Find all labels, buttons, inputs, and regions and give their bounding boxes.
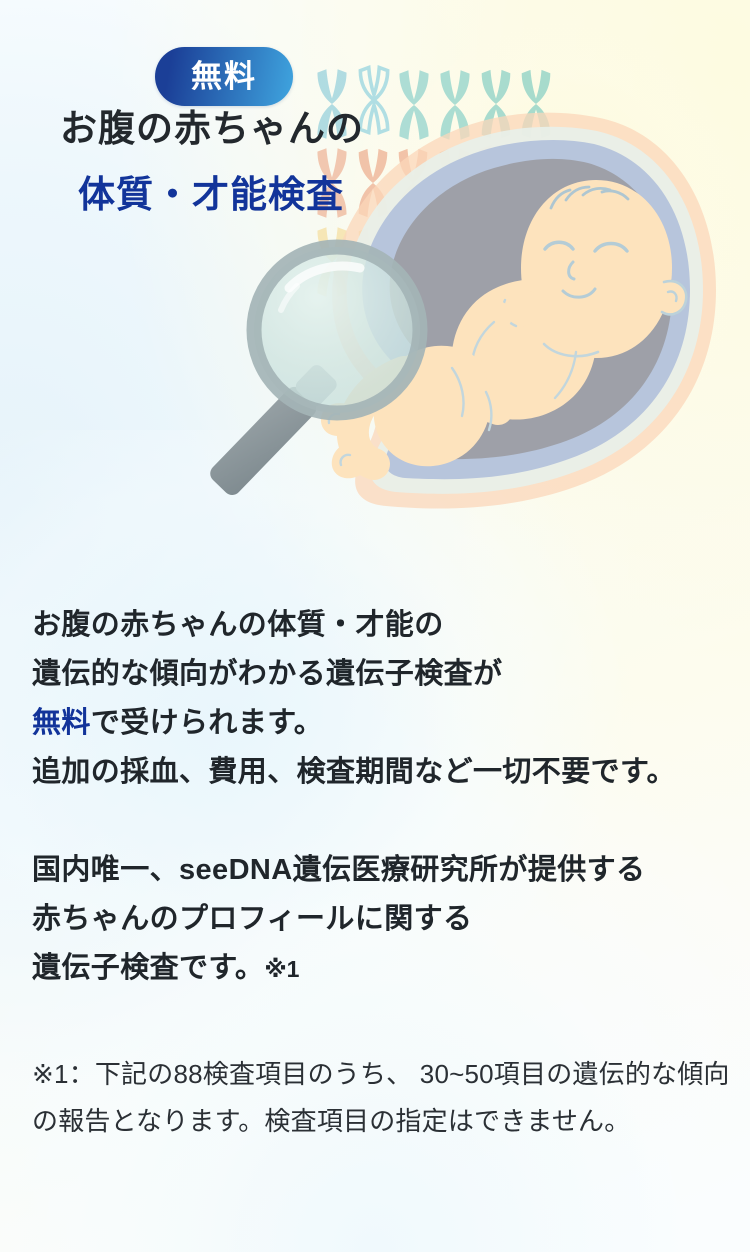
paragraph-2-line-1: 国内唯一、seeDNA遺伝医療研究所が提供する bbox=[32, 846, 732, 895]
footnote-reference-marker: ※1 bbox=[264, 956, 299, 982]
paragraph-1-line-3-rest: で受けられます。 bbox=[91, 707, 323, 739]
paragraph-2: 国内唯一、seeDNA遺伝医療研究所が提供する 赤ちゃんのプロフィールに関する … bbox=[32, 846, 732, 994]
paragraph-1-line-4: 追加の採血、費用、検査期間など一切不要です。 bbox=[32, 748, 732, 797]
paragraph-2-line-2: 赤ちゃんのプロフィールに関する bbox=[32, 895, 732, 944]
landing-page: 無料 お腹の赤ちゃんの 体質・才能検査 お腹の赤ちゃんの体質・才能の 遺伝的な傾… bbox=[0, 0, 750, 1252]
paragraph-spacer bbox=[32, 797, 732, 846]
free-highlight: 無料 bbox=[32, 707, 91, 739]
page-title-line-2: 体質・才能検査 bbox=[78, 176, 750, 213]
paragraph-1-line-2: 遺伝的な傾向がわかる遺伝子検査が bbox=[32, 650, 732, 699]
free-badge: 無料 bbox=[155, 47, 293, 106]
page-title-line-1: お腹の赤ちゃんの bbox=[60, 110, 750, 147]
footnote-text: ※1：下記の88検査項目のうち、 30~50項目の遺伝的な傾向の報告となります。… bbox=[32, 1051, 732, 1145]
paragraph-2-line-3-text: 遺伝子検査です。 bbox=[32, 952, 264, 984]
paragraph-1-line-3: 無料で受けられます。 bbox=[32, 699, 732, 748]
body-copy: お腹の赤ちゃんの体質・才能の 遺伝的な傾向がわかる遺伝子検査が 無料で受けられま… bbox=[32, 601, 732, 994]
background-wash-yellow bbox=[250, 0, 750, 620]
paragraph-1-line-1: お腹の赤ちゃんの体質・才能の bbox=[32, 601, 732, 650]
paragraph-2-line-3: 遺伝子検査です。※1 bbox=[32, 944, 732, 994]
paragraph-1: お腹の赤ちゃんの体質・才能の 遺伝的な傾向がわかる遺伝子検査が 無料で受けられま… bbox=[32, 601, 732, 797]
page-title: お腹の赤ちゃんの 体質・才能検査 bbox=[0, 110, 750, 213]
